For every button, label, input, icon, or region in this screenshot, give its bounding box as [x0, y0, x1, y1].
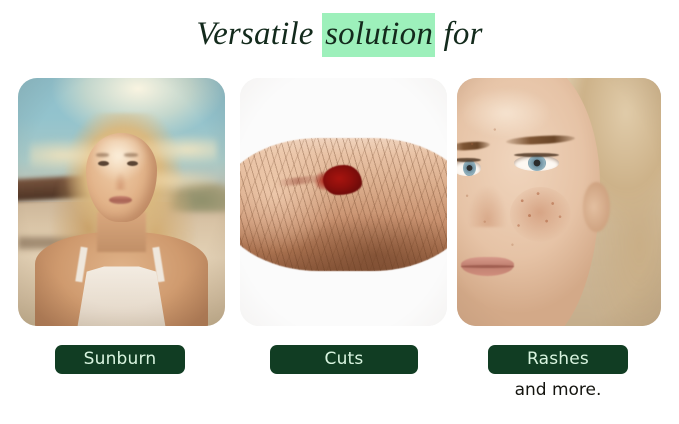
photo-freckled-face	[457, 78, 661, 326]
label-pill-cuts: Cuts	[270, 345, 418, 374]
page-title: Versatile solution for	[0, 14, 679, 54]
title-after-text: for	[435, 16, 483, 52]
photo-vignette	[240, 78, 447, 326]
photo-vignette	[457, 78, 661, 326]
image-card-rashes	[457, 78, 661, 326]
image-card-row	[0, 78, 679, 326]
title-highlighted-word: solution	[322, 13, 435, 57]
photo-arm-cut	[240, 78, 447, 326]
label-pill-rashes: Rashes	[488, 345, 628, 374]
title-before-text: Versatile	[196, 16, 322, 52]
label-pill-sunburn: Sunburn	[55, 345, 185, 374]
photo-vignette	[18, 78, 225, 326]
image-card-cuts	[240, 78, 447, 326]
image-card-sunburn	[18, 78, 225, 326]
and-more-text: and more.	[488, 379, 628, 401]
photo-sunburn-woman	[18, 78, 225, 326]
promo-banner: Versatile solution for	[0, 0, 679, 424]
